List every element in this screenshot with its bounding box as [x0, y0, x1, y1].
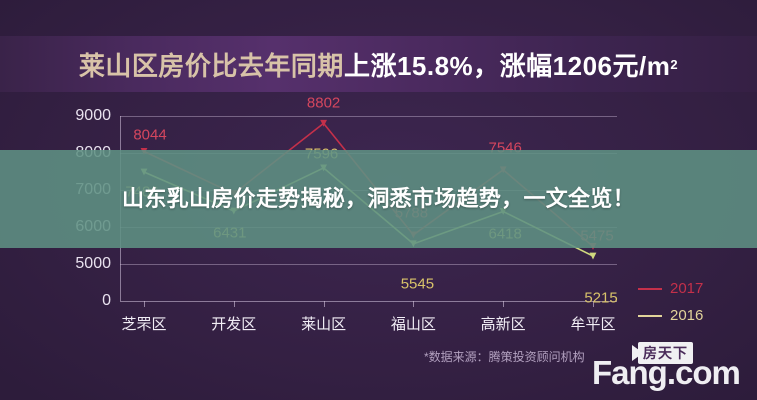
x-axis-tick: [503, 301, 504, 307]
watermark: 房天下 Fang.com: [592, 342, 752, 396]
y-axis-tick-label: 9000: [75, 107, 111, 125]
legend-item-2016[interactable]: 2016: [638, 307, 703, 324]
legend-label-2016: 2016: [670, 307, 703, 324]
x-axis-label: 牟平区: [570, 313, 615, 334]
article-title-overlay: 山东乳山房价走势揭秘，洞悉市场趋势，一文全览！: [0, 150, 757, 248]
legend-swatch-2017: [638, 288, 662, 290]
x-axis-label: 开发区: [211, 313, 256, 334]
headline: 莱山区房价比去年同期上涨15.8%，涨幅1206元/m2: [0, 36, 757, 92]
headline-superscript: 2: [670, 57, 678, 72]
data-label-2016-福山区: 5545: [401, 275, 434, 292]
y-axis-tick-label: 5000: [75, 255, 111, 273]
data-point-2016-牟平区: [590, 253, 597, 260]
data-label-2016-牟平区: 5215: [584, 290, 617, 307]
legend-label-2017: 2017: [670, 280, 703, 297]
x-axis-tick: [324, 301, 325, 307]
legend: 2017 2016: [638, 280, 703, 334]
gridline: [120, 301, 617, 302]
headline-lead: 莱山区房价比去年同期: [79, 46, 344, 83]
legend-item-2017[interactable]: 2017: [638, 280, 703, 297]
x-axis-tick: [144, 301, 145, 307]
legend-swatch-2016: [638, 315, 662, 317]
data-label-2017-芝罘区: 8044: [133, 127, 166, 144]
x-axis-tick: [413, 301, 414, 307]
data-label-2017-莱山区: 8802: [307, 95, 340, 112]
y-axis-tick-label: 0: [102, 292, 111, 310]
source-note: *数据来源：腾策投资顾问机构: [424, 348, 585, 365]
x-axis-label: 芝罘区: [121, 313, 166, 334]
chart-screenshot: 莱山区房价比去年同期上涨15.8%，涨幅1206元/m2 90008000700…: [0, 0, 757, 400]
article-title: 山东乳山房价走势揭秘，洞悉市场趋势，一文全览！: [122, 185, 635, 213]
headline-emphasis: 上涨15.8%，涨幅1206元/m: [344, 46, 670, 83]
x-axis-label: 莱山区: [301, 313, 346, 334]
watermark-brand: Fang.com: [592, 356, 740, 389]
x-axis-label: 高新区: [481, 313, 526, 334]
x-axis-tick: [234, 301, 235, 307]
x-axis-label: 福山区: [391, 313, 436, 334]
